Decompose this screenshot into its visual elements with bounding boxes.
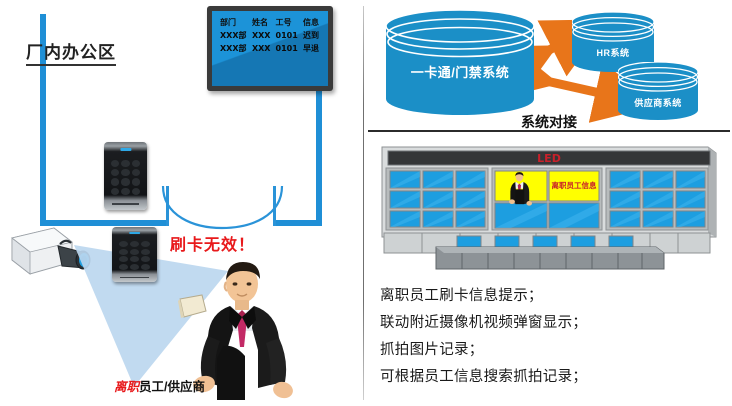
wall-display-monitor: 部门 姓名 工号 信息 XXX部 XXX 0101 迟到 XXX部: [207, 6, 333, 91]
cell-employee-id: 0101: [274, 29, 302, 42]
monitor-block-left: [386, 168, 488, 230]
table-row: XXX部 XXX 0101 早退: [218, 42, 322, 55]
node-label: 供应商系统: [618, 96, 698, 109]
right-panel: 一卡通/门禁系统 HR系统 供应商系统 系统对接 LED: [366, 0, 732, 406]
cell-employee-id: 0101: [274, 42, 302, 55]
reader-keypad: [111, 160, 140, 195]
panel-divider: [363, 6, 364, 400]
reader-keypad: [119, 241, 150, 270]
reader-led-indicator: [129, 232, 141, 234]
feature-list: 离职员工刷卡信息提示； 联动附近摄像机视频弹窗显示； 抓拍图片记录； 可根据员工…: [380, 283, 725, 391]
card-reader-icon: [112, 227, 157, 282]
workstation-row: [384, 233, 710, 269]
cell-name: XXX: [250, 42, 274, 55]
attendance-table: 部门 姓名 工号 信息 XXX部 XXX 0101 迟到 XXX部: [218, 16, 322, 55]
cell-status: 迟到: [301, 29, 322, 42]
monitor-screen: 部门 姓名 工号 信息 XXX部 XXX 0101 迟到 XXX部: [212, 11, 328, 86]
led-banner-text: LED: [537, 152, 561, 165]
cell-status: 早退: [301, 42, 322, 55]
list-item: 联动附近摄像机视频弹窗显示；: [380, 310, 725, 337]
column-header: 信息: [301, 16, 322, 29]
arrow-main-to-supplier: [524, 76, 622, 98]
table-row: XXX部 XXX 0101 迟到: [218, 29, 322, 42]
section-divider: [368, 130, 730, 132]
double-door-icon: [160, 182, 285, 230]
alert-panel-text: 离职员工信息: [552, 180, 597, 190]
monitor-block-center: 离职员工信息: [492, 168, 602, 230]
reader-led-indicator: [120, 148, 131, 151]
reader-bottom-strip: [112, 203, 140, 205]
cell-department: XXX部: [218, 42, 250, 55]
person-caption-highlight: 离职: [114, 380, 139, 394]
monitor-block-right: [606, 168, 708, 230]
card-reader-icon: [104, 142, 147, 210]
system-integration-caption: 系统对接: [366, 112, 732, 132]
cell-department: XXX部: [218, 29, 250, 42]
list-item: 离职员工刷卡信息提示；: [380, 283, 725, 310]
invalid-card-alert: 刷卡无效！: [170, 231, 255, 255]
column-header: 部门: [218, 16, 250, 29]
businessman-icon: [190, 258, 298, 406]
cell-name: XXX: [250, 29, 274, 42]
table-header-row: 部门 姓名 工号 信息: [218, 16, 322, 29]
node-label: HR系统: [572, 46, 654, 59]
page-title: 厂内办公区: [26, 38, 116, 66]
node-label: 一卡通/门禁系统: [386, 62, 534, 81]
factory-office-scene: 厂内办公区 部门 姓名 工号 信息 XXX部 XXX 0101: [0, 0, 363, 406]
person-caption-rest: 员工/供应商: [139, 380, 205, 394]
list-item: 抓拍图片记录；: [380, 337, 725, 364]
led-video-wall: LED: [378, 141, 721, 271]
node-one-card-access-system: 一卡通/门禁系统: [386, 10, 534, 115]
reader-bottom-strip: [120, 277, 149, 279]
list-item: 可根据员工信息搜索抓拍记录；: [380, 364, 725, 391]
column-header: 姓名: [250, 16, 274, 29]
column-header: 工号: [274, 16, 302, 29]
person-caption: 离职员工/供应商: [114, 376, 205, 395]
